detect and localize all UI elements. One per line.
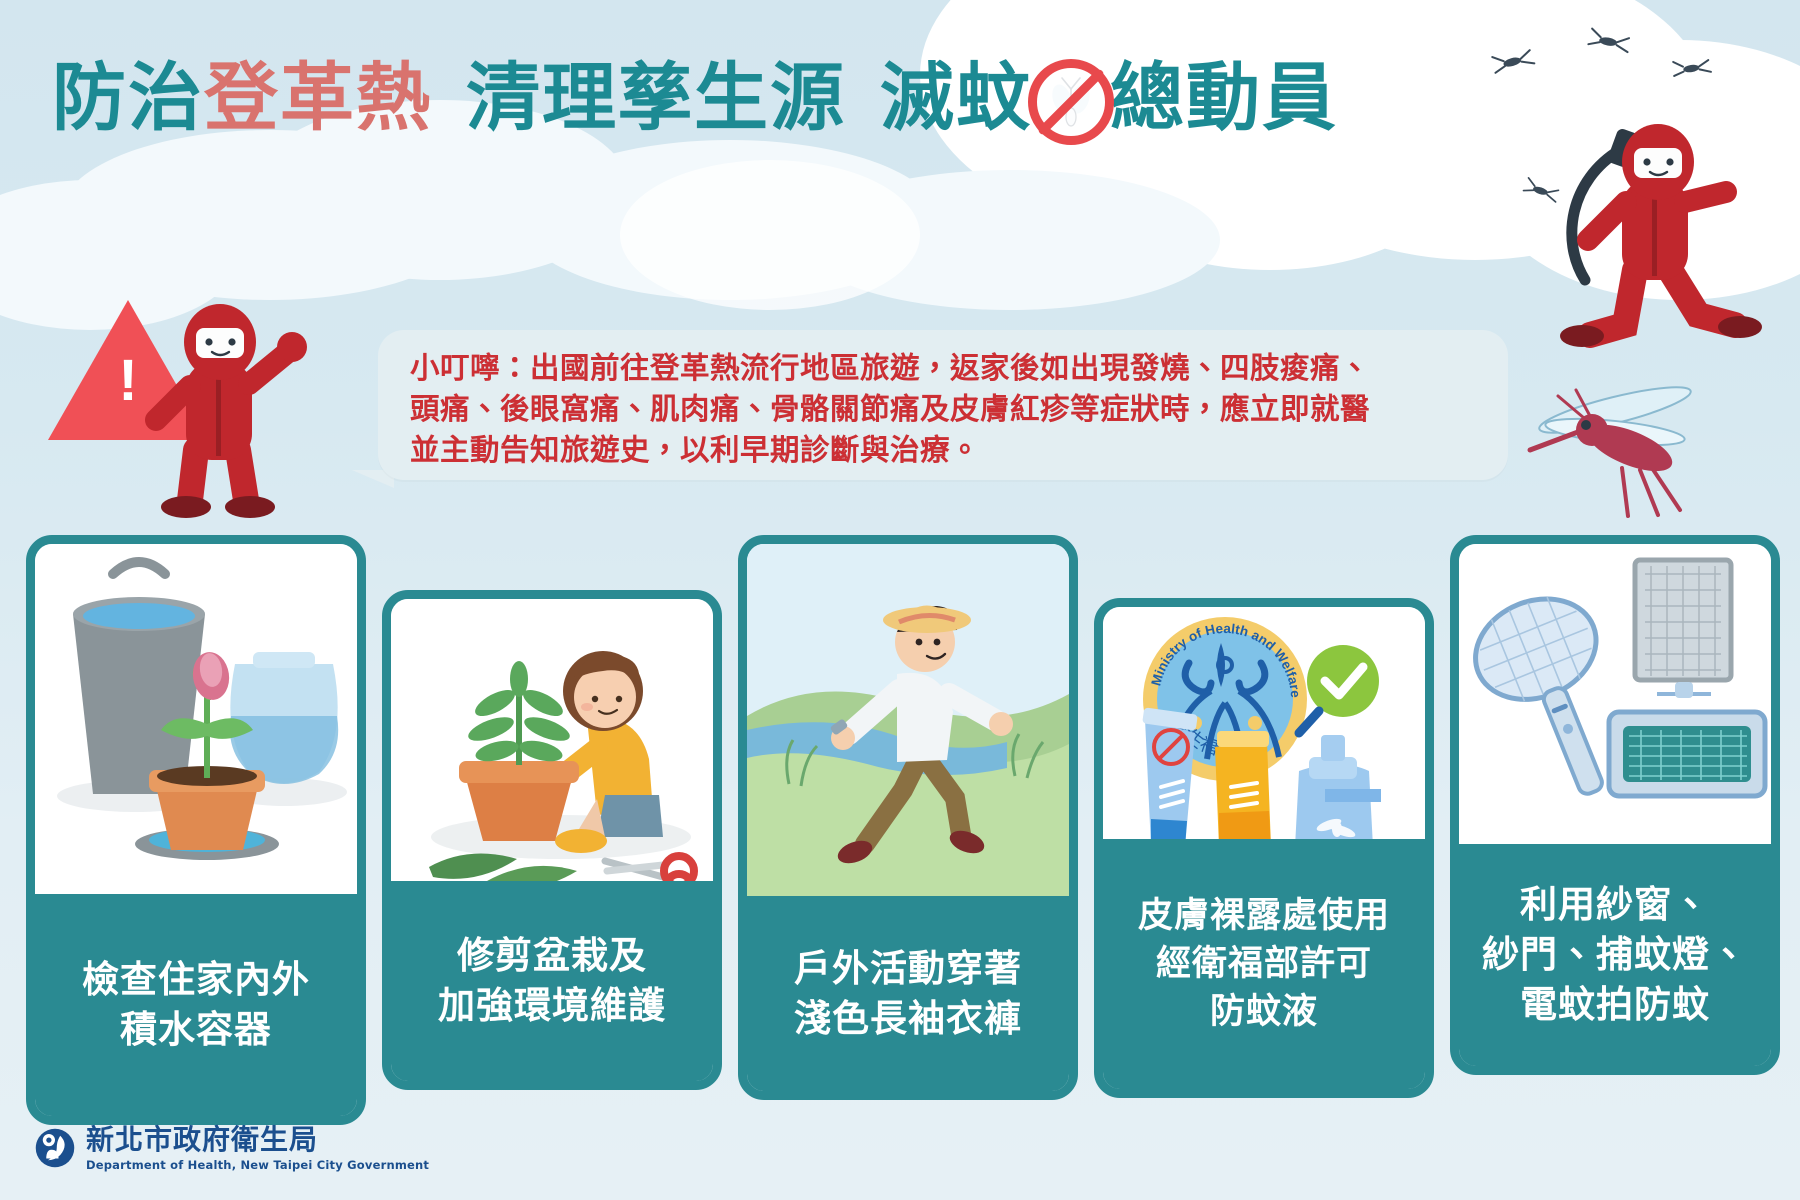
page-title: 防治登革熱清理孳生源滅蚊 總動員 [52, 38, 1338, 145]
reminder-line-1: 小叮嚀：出國前往登革熱流行地區旅遊，返家後如出現發燒、四肢痠痛、 [410, 348, 1488, 389]
department-logo-icon [34, 1127, 76, 1169]
footer-org-en: Department of Health, New Taipei City Go… [86, 1158, 429, 1172]
card-1[interactable]: 檢查住家內外 積水容器 [26, 535, 366, 1125]
mosquito-illustration [1500, 370, 1770, 530]
card-3-caption: 戶外活動穿著 淺色長袖衣褲 [747, 896, 1069, 1091]
card-5-caption-line-2: 紗門、捕蚊燈、 [1459, 930, 1771, 980]
title-segment-5: 總動員 [1110, 55, 1338, 141]
card-1-caption: 檢查住家內外 積水容器 [35, 894, 357, 1116]
reminder-text: 小叮嚀：出國前往登革熱流行地區旅遊，返家後如出現發燒、四肢痠痛、 頭痛、後眼窩痛… [410, 348, 1488, 471]
card-4-caption: 皮膚裸露處使用 經衛福部許可 防蚊液 [1103, 839, 1425, 1089]
card-4-illustration: Ministry of Health and Welfare 衛生福利部 [1103, 607, 1425, 857]
reminder-line-3: 並主動告知旅遊史，以利早期診斷與治療。 [410, 430, 1488, 471]
title-segment-3: 清理孳生源 [466, 55, 846, 141]
pest-control-worker-left [128, 300, 358, 530]
card-3[interactable]: 戶外活動穿著 淺色長袖衣褲 [738, 535, 1078, 1100]
card-3-caption-line-1: 戶外活動穿著 [747, 944, 1069, 994]
reminder-callout: 小叮嚀：出國前往登革熱流行地區旅遊，返家後如出現發燒、四肢痠痛、 頭痛、後眼窩痛… [378, 330, 1508, 480]
card-3-illustration [747, 544, 1069, 896]
card-1-caption-line-1: 檢查住家內外 [35, 955, 357, 1005]
footer-org-zh: 新北市政府衛生局 [86, 1125, 429, 1155]
card-5[interactable]: 利用紗窗、 紗門、捕蚊燈、 電蚊拍防蚊 [1450, 535, 1780, 1075]
card-3-caption-line-2: 淺色長袖衣褲 [747, 994, 1069, 1044]
card-2-caption: 修剪盆栽及 加強環境維護 [391, 881, 713, 1081]
card-5-illustration [1459, 544, 1771, 844]
card-5-caption: 利用紗窗、 紗門、捕蚊燈、 電蚊拍防蚊 [1459, 844, 1771, 1066]
card-2-caption-line-1: 修剪盆栽及 [391, 931, 713, 981]
card-5-caption-line-3: 電蚊拍防蚊 [1459, 980, 1771, 1030]
card-4-caption-line-2: 經衛福部許可 [1103, 940, 1425, 988]
card-4[interactable]: Ministry of Health and Welfare 衛生福利部 [1094, 598, 1434, 1098]
no-mosquito-icon [1028, 59, 1114, 145]
pest-control-worker-right [1530, 120, 1780, 350]
card-5-caption-line-1: 利用紗窗、 [1459, 880, 1771, 930]
title-segment-1: 防治 [52, 55, 204, 141]
title-segment-2: 登革熱 [204, 55, 432, 141]
title-segment-4: 滅蚊 [880, 55, 1032, 141]
poster-canvas: 防治登革熱清理孳生源滅蚊 總動員 [0, 0, 1800, 1200]
card-2-caption-line-2: 加強環境維護 [391, 981, 713, 1031]
footer-logo: 新北市政府衛生局 Department of Health, New Taipe… [34, 1125, 429, 1172]
card-4-caption-line-1: 皮膚裸露處使用 [1103, 892, 1425, 940]
card-2[interactable]: 修剪盆栽及 加強環境維護 [382, 590, 722, 1090]
card-4-caption-line-3: 防蚊液 [1103, 988, 1425, 1036]
card-1-illustration [35, 544, 357, 894]
reminder-line-2: 頭痛、後眼窩痛、肌肉痛、骨骼關節痛及皮膚紅疹等症狀時，應立即就醫 [410, 389, 1488, 430]
card-1-caption-line-2: 積水容器 [35, 1005, 357, 1055]
card-2-illustration [391, 599, 713, 889]
